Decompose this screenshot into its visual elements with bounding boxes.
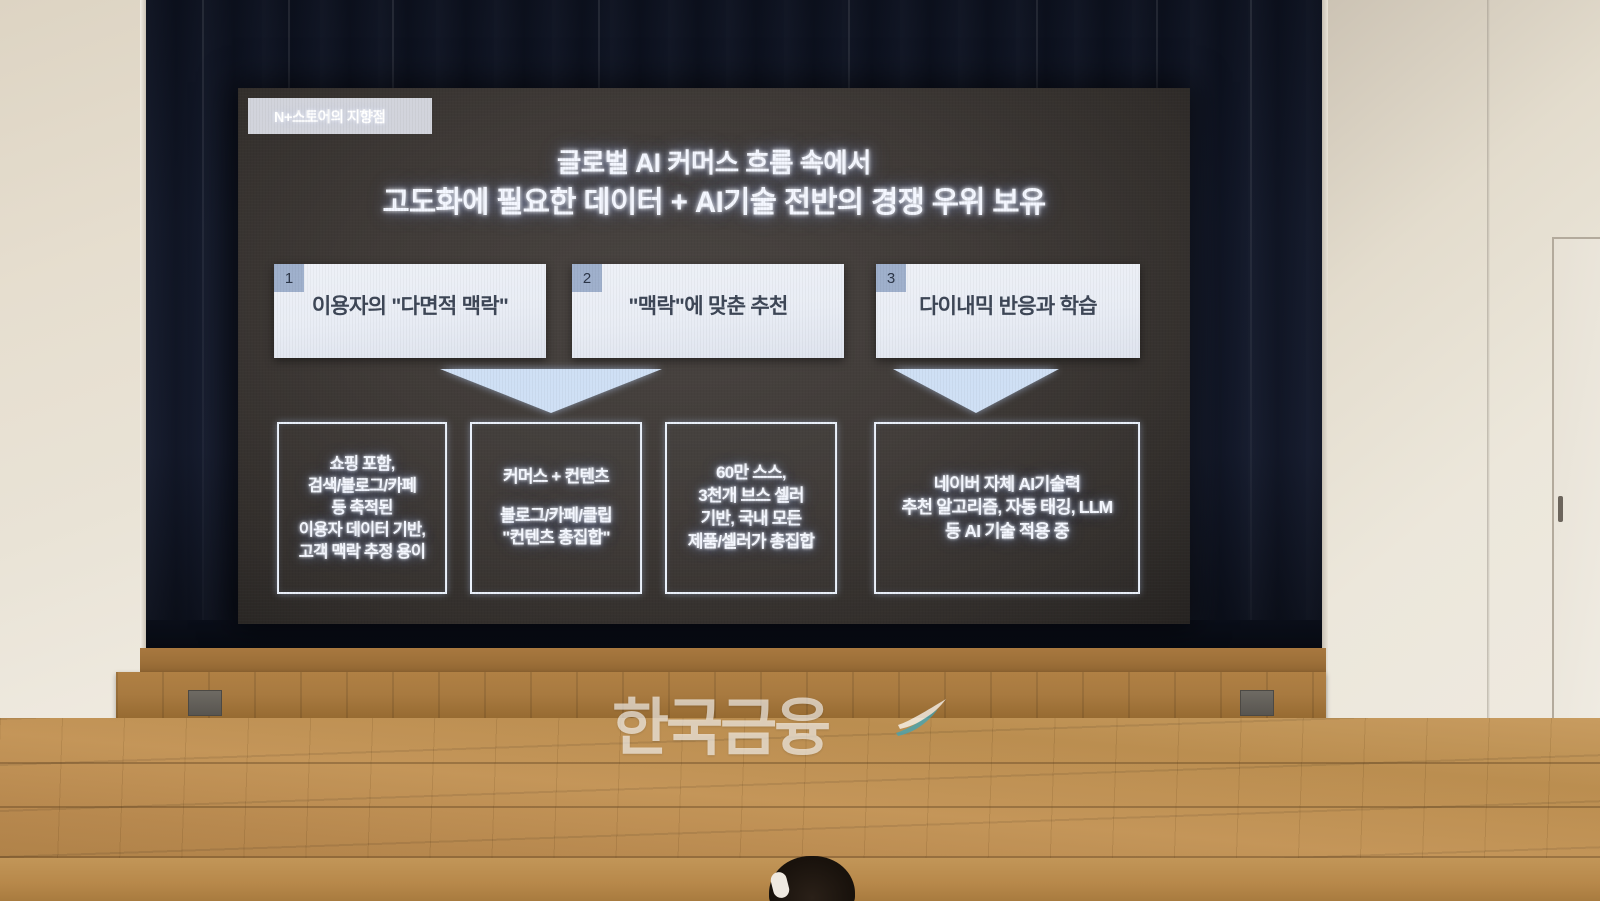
slide-title: 글로벌 AI 커머스 흐름 속에서 고도화에 필요한 데이터 + AI기술 전반… (238, 146, 1190, 223)
numbered-box-row: 1 이용자의 "다면적 맥락" 2 "맥락"에 맞춘 추천 3 다이내믹 반응과… (238, 264, 1190, 358)
projection-screen: N+스토어의 지향점 글로벌 AI 커머스 흐름 속에서 고도화에 필요한 데이… (238, 88, 1190, 624)
slide-section-tag: N+스토어의 지향점 (248, 98, 432, 134)
numbered-box-3-badge: 3 (876, 264, 906, 292)
floor-seam-1 (0, 762, 1600, 764)
floor-seam-2 (0, 806, 1600, 808)
numbered-box-1-label: 이용자의 "다면적 맥락" (274, 290, 546, 320)
down-arrow-left-icon (440, 369, 662, 413)
detail-box-3: 60만 스스,3천개 브스 셀러기반, 국내 모든제품/셀러가 총집합 (665, 422, 837, 594)
slide-section-tag-label: N+스토어의 지향점 (274, 106, 385, 127)
slide-title-line-2: 고도화에 필요한 데이터 + AI기술 전반의 경쟁 우위 보유 (238, 184, 1190, 223)
down-arrow-right-icon (893, 369, 1059, 413)
auditorium-scene: N+스토어의 지향점 글로벌 AI 커머스 흐름 속에서 고도화에 필요한 데이… (0, 0, 1600, 901)
detail-box-row: 쇼핑 포함,검색/블로그/카페등 축적된이용자 데이터 기반,고객 맥락 추정 … (238, 422, 1190, 597)
numbered-box-2-badge: 2 (572, 264, 602, 292)
detail-box-1: 쇼핑 포함,검색/블로그/카페등 축적된이용자 데이터 기반,고객 맥락 추정 … (277, 422, 447, 594)
numbered-box-3-label: 다이내믹 반응과 학습 (876, 290, 1140, 320)
stage-riser (116, 672, 1326, 722)
stage-vent-left (188, 690, 222, 716)
door-handle (1558, 496, 1563, 522)
detail-box-2: 커머스 + 컨텐츠블로그/카페/클립"컨텐츠 총집합" (470, 422, 642, 594)
detail-box-1-text: 쇼핑 포함,검색/블로그/카페등 축적된이용자 데이터 기반,고객 맥락 추정 … (295, 453, 429, 564)
numbered-box-1-badge: 1 (274, 264, 304, 292)
detail-box-4: 네이버 자체 AI기술력추천 알고리즘, 자동 태깅, LLM등 AI 기술 적… (874, 422, 1140, 594)
detail-box-2-text: 커머스 + 컨텐츠블로그/카페/클립"컨텐츠 총집합" (496, 466, 616, 550)
numbered-box-2-label: "맥락"에 맞춘 추천 (572, 290, 844, 320)
slide-title-line-1: 글로벌 AI 커머스 흐름 속에서 (238, 146, 1190, 181)
detail-box-3-text: 60만 스스,3천개 브스 셀러기반, 국내 모든제품/셀러가 총집합 (684, 462, 819, 553)
detail-box-4-text: 네이버 자체 AI기술력추천 알고리즘, 자동 태깅, LLM등 AI 기술 적… (898, 473, 1117, 543)
numbered-box-3: 3 다이내믹 반응과 학습 (876, 264, 1140, 358)
stage-vent-right (1240, 690, 1274, 716)
left-wall (0, 0, 148, 726)
numbered-box-1: 1 이용자의 "다면적 맥락" (274, 264, 546, 358)
right-wall-corner (1487, 0, 1490, 790)
numbered-box-2: 2 "맥락"에 맞춘 추천 (572, 264, 844, 358)
